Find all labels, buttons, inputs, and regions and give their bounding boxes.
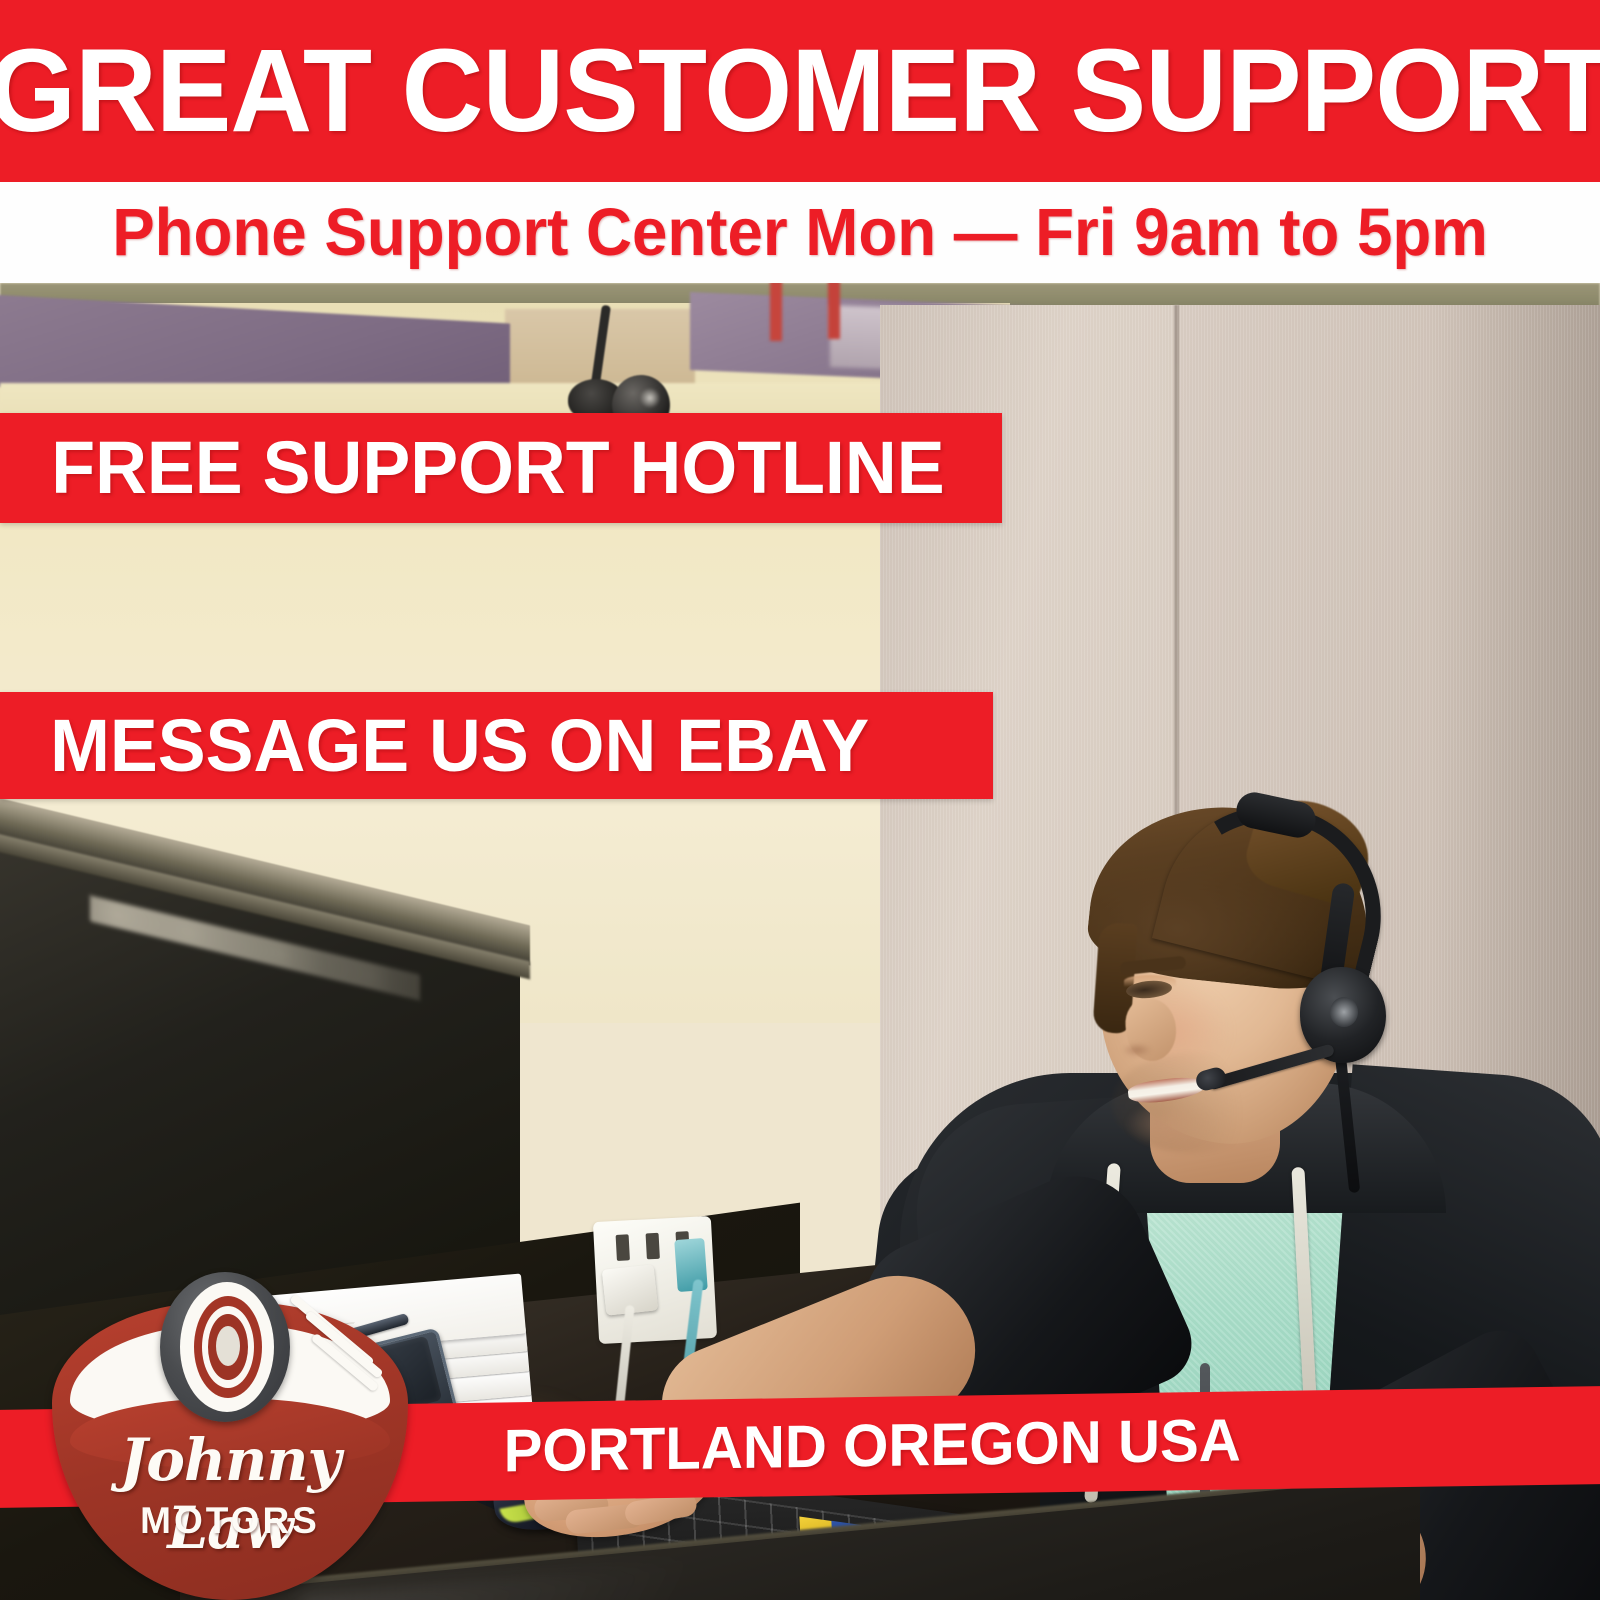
- background-red-object-a: [770, 283, 782, 341]
- header-red-band: GREAT CUSTOMER SUPPORT: [0, 0, 1600, 182]
- page-title: GREAT CUSTOMER SUPPORT: [0, 32, 1600, 150]
- banner-label: MESSAGE US ON EBAY: [13, 709, 869, 783]
- johnny-law-motors-logo[interactable]: Johnny Law MOTORS: [52, 1248, 408, 1600]
- header-white-band: Phone Support Center Mon — Fri 9am to 5p…: [0, 182, 1600, 283]
- logo-sub-name: MOTORS: [52, 1500, 408, 1542]
- chin-shading: [1126, 1101, 1216, 1147]
- background-red-object-b: [828, 283, 840, 339]
- banner-message-us-on-ebay[interactable]: MESSAGE US ON EBAY: [0, 692, 993, 799]
- banner-label: FREE SUPPORT HOTLINE: [14, 431, 944, 505]
- tire-hub: [216, 1326, 240, 1366]
- support-poster: GREAT CUSTOMER SUPPORT Phone Support Cen…: [0, 0, 1600, 1600]
- header-subtitle: Phone Support Center Mon — Fri 9am to 5p…: [112, 199, 1488, 266]
- nose-shadow: [1122, 1043, 1152, 1057]
- desk-lamp-highlight: [640, 387, 660, 409]
- headset-earcup-badge: [1330, 997, 1358, 1027]
- banner-free-support-hotline[interactable]: FREE SUPPORT HOTLINE: [0, 413, 1002, 523]
